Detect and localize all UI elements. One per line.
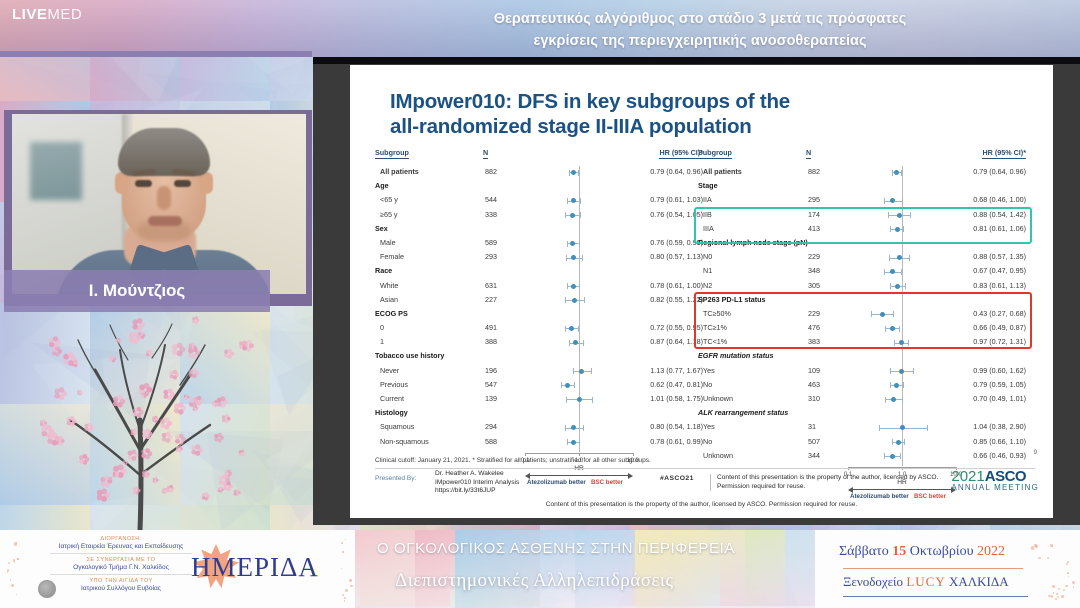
sparkle-decoration (8, 562, 10, 564)
event-date: Σάββατο 15 Οκτωβρίου 2022 (839, 544, 1005, 560)
sparkle-decoration (10, 579, 12, 581)
logo-bold-text: LIVE (12, 6, 47, 23)
presented-by-details: Dr. Heather A. Wakelee IMpower010 Interi… (435, 470, 519, 496)
row-label: Previous (380, 380, 408, 389)
row-forest-marker (848, 223, 956, 237)
presentation-slide[interactable]: IMpower010: DFS in key subgroups of the … (350, 65, 1053, 518)
medical-association-seal-icon (38, 580, 56, 598)
row-hr: 0.97 (0.72, 1.31) (973, 337, 1026, 346)
table-row: Unknown3100.70 (0.49, 1.01) (698, 393, 1028, 407)
banner-event-title: Ο ΟΓΚΟΛΟΓΙΚΟΣ ΑΣΘΕΝΗΣ ΣΤΗΝ ΠΕΡΙΦΕΡΕΙΑ Δι… (355, 530, 815, 608)
table-row: Asian2270.82 (0.55, 1.22) (375, 294, 705, 308)
column-header-n: N (806, 148, 811, 159)
forest-left-header: Subgroup N HR (95% CI)* (375, 148, 705, 162)
column-header-subgroup: Subgroup (375, 148, 409, 159)
row-n: 547 (485, 380, 497, 389)
sparkle-decoration (1058, 588, 1060, 590)
row-hr: 0.70 (0.49, 1.01) (973, 394, 1026, 403)
direction-arrow (529, 475, 629, 476)
table-row: Previous5470.62 (0.47, 0.81) (375, 379, 705, 393)
organizer-divider-2 (50, 574, 192, 575)
table-row: All patients8820.79 (0.64, 0.96) (698, 166, 1028, 180)
organizer-value-2: Ογκολογικό Τμήμα Γ.Ν. Χαλκίδος (36, 564, 206, 571)
row-forest-marker (848, 336, 956, 350)
row-label: <65 y (380, 195, 398, 204)
date-divider (843, 568, 1023, 569)
row-hr: 0.78 (0.61, 0.99) (650, 437, 703, 446)
row-forest-marker (848, 365, 956, 379)
table-row: IIA2950.68 (0.46, 1.00) (698, 194, 1028, 208)
row-forest-marker (848, 251, 956, 265)
row-forest-marker (525, 294, 633, 308)
table-row: TC≥50%2290.43 (0.27, 0.68) (698, 308, 1028, 322)
row-forest-marker (525, 280, 633, 294)
sparkle-decoration (345, 539, 346, 540)
row-hr: 0.72 (0.55, 0.95) (650, 323, 703, 332)
row-label: All patients (703, 167, 742, 176)
organizer-label-3: ΥΠΟ ΤΗΝ ΑΙΓΙΔΑ ΤΟΥ (36, 578, 206, 584)
asco-rights-note: Content of this presentation is the prop… (710, 474, 938, 491)
table-row: TC<1%3830.97 (0.72, 1.31) (698, 336, 1028, 350)
event-title-line1: Ο ΟΓΚΟΛΟΓΙΚΟΣ ΑΣΘΕΝΗΣ ΣΤΗΝ ΠΕΡΙΦΕΡΕΙΑ (377, 540, 735, 557)
row-label: Race (375, 266, 392, 275)
asco-logo-main: 2021ASCO (951, 469, 1039, 484)
sparkle-decoration (1061, 595, 1064, 598)
row-n: 491 (485, 323, 497, 332)
row-label: IIIA (703, 224, 714, 233)
table-row: White6310.78 (0.61, 1.00) (375, 280, 705, 294)
row-forest-marker (525, 436, 633, 450)
row-hr: 0.79 (0.64, 0.96) (973, 167, 1026, 176)
row-label: Tobacco use history (375, 351, 444, 360)
table-row: Non-squamous5880.78 (0.61, 0.99) (375, 436, 705, 450)
row-hr: 0.78 (0.61, 1.00) (650, 281, 703, 290)
forest-left-rows: All patients8820.79 (0.64, 0.96)Age<65 y… (375, 166, 705, 450)
table-row: Histology (375, 407, 705, 421)
row-hr: 0.66 (0.49, 0.87) (973, 323, 1026, 332)
sparkle-decoration (1073, 586, 1074, 587)
column-header-n: N (483, 148, 488, 159)
row-n: 227 (485, 295, 497, 304)
row-forest-marker (525, 209, 633, 223)
row-label: Current (380, 394, 404, 403)
row-label: ALK rearrangement status (698, 408, 788, 417)
sparkle-decoration (1055, 598, 1057, 600)
row-n: 31 (808, 422, 816, 431)
event-logo-text: ΗΜΕΡΙΔΑ (191, 552, 351, 583)
legend-right-better: BSC better (914, 493, 946, 500)
row-label: TC≥1% (703, 323, 727, 332)
venue-divider (843, 596, 1028, 597)
sparkle-decoration (1065, 585, 1068, 588)
row-label: Stage (698, 181, 718, 190)
table-row: 13880.87 (0.64, 1.18) (375, 336, 705, 350)
presenter-full-name: Dr. Heather A. Wakelee (435, 470, 519, 479)
row-forest-marker (525, 194, 633, 208)
legend-left-better: Atezolizumab better (527, 479, 586, 486)
row-forest-marker (848, 308, 956, 322)
organizer-label-2: ΣΕ ΣΥΝΕΡΓΑΣΙΑ ΜΕ ΤΟ (36, 557, 206, 563)
presenter-video[interactable] (12, 114, 306, 294)
slide-copyright-note: Content of this presentation is the prop… (350, 501, 1053, 508)
table-row: IIB1740.88 (0.54, 1.42) (698, 209, 1028, 223)
row-forest-marker (525, 421, 633, 435)
row-hr: 0.83 (0.61, 1.13) (973, 281, 1026, 290)
table-row: Female2930.80 (0.57, 1.13) (375, 251, 705, 265)
row-hr: 0.67 (0.47, 0.95) (973, 266, 1026, 275)
row-n: 293 (485, 252, 497, 261)
table-row: Tobacco use history (375, 350, 705, 364)
table-row: Sex (375, 223, 705, 237)
row-hr: 0.85 (0.66, 1.10) (973, 437, 1026, 446)
date-day: 15 (892, 544, 906, 559)
table-row: N13480.67 (0.47, 0.95) (698, 265, 1028, 279)
table-row: 04910.72 (0.55, 0.95) (375, 322, 705, 336)
row-n: 196 (485, 366, 497, 375)
row-n: 463 (808, 380, 820, 389)
presenter-name: Ι. Μούντζιος (89, 281, 186, 301)
table-row: No4630.79 (0.59, 1.05) (698, 379, 1028, 393)
row-label: Yes (703, 422, 715, 431)
presenter-ear-right (200, 172, 213, 194)
row-hr: 1.13 (0.77, 1.67) (650, 366, 703, 375)
row-label: Age (375, 181, 389, 190)
row-n: 310 (808, 394, 820, 403)
row-forest-marker (525, 237, 633, 251)
row-forest-marker (525, 379, 633, 393)
row-label: IIA (703, 195, 712, 204)
row-forest-marker (848, 421, 956, 435)
sparkle-decoration (1052, 585, 1055, 588)
sparkle-decoration (342, 551, 344, 553)
row-forest-marker (848, 436, 956, 450)
row-n: 305 (808, 281, 820, 290)
column-header-subgroup: Subgroup (698, 148, 732, 159)
slide-title: IMpower010: DFS in key subgroups of the … (390, 89, 950, 139)
row-label: TC<1% (703, 337, 727, 346)
table-row: EGFR mutation status (698, 350, 1028, 364)
row-n: 139 (485, 394, 497, 403)
row-hr: 1.01 (0.58, 1.75) (650, 394, 703, 403)
row-n: 544 (485, 195, 497, 204)
sparkle-decoration (1068, 576, 1069, 577)
sparkle-decoration (349, 579, 351, 581)
row-label: No (703, 380, 712, 389)
sparkle-decoration (1051, 546, 1052, 547)
row-forest-marker (848, 280, 956, 294)
row-label: Squamous (380, 422, 414, 431)
row-label: Sex (375, 224, 388, 233)
row-forest-marker (848, 194, 956, 208)
asco-hashtag: #ASCO21 (660, 475, 694, 482)
row-hr: 0.79 (0.64, 0.96) (650, 167, 703, 176)
row-forest-marker (525, 393, 633, 407)
sparkle-decoration (1063, 589, 1066, 592)
study-link[interactable]: https://bit.ly/33t6JUP (435, 487, 519, 496)
sparkle-decoration (1072, 581, 1075, 584)
row-n: 882 (808, 167, 820, 176)
row-forest-marker (848, 166, 956, 180)
row-n: 882 (485, 167, 497, 176)
row-label: Histology (375, 408, 408, 417)
row-forest-marker (525, 166, 633, 180)
row-n: 588 (485, 437, 497, 446)
venue-name: LUCY (906, 574, 945, 589)
row-hr: 1.04 (0.38, 2.90) (973, 422, 1026, 431)
asco-rights-line2: Permission required for reuse. (717, 483, 938, 492)
table-row: TC≥1%4760.66 (0.49, 0.87) (698, 322, 1028, 336)
row-hr: 0.81 (0.61, 1.06) (973, 224, 1026, 233)
page-title: Θεραπευτικός αλγόριθμος στο στάδιο 3 μετ… (330, 8, 1070, 52)
presenter-nose (157, 186, 171, 210)
event-venue: Ξενοδοχείο LUCY ΧΑΛΚΙΔΑ (843, 574, 1009, 590)
table-row: N02290.88 (0.57, 1.35) (698, 251, 1028, 265)
sparkle-decoration (344, 597, 346, 599)
row-forest-marker (848, 322, 956, 336)
sparkle-decoration (350, 585, 353, 588)
table-row: No5070.85 (0.66, 1.10) (698, 436, 1028, 450)
presenter-name-bar: Ι. Μούντζιος (4, 270, 270, 312)
row-n: 338 (485, 210, 497, 219)
date-prefix: Σάββατο (839, 544, 889, 559)
row-hr: 0.99 (0.60, 1.62) (973, 366, 1026, 375)
forest-plot-right: Subgroup N HR (95% CI)* All patients8820… (698, 148, 1028, 448)
row-n: 388 (485, 337, 497, 346)
row-label: TC≥50% (703, 309, 731, 318)
row-label: IIB (703, 210, 712, 219)
row-n: 229 (808, 309, 820, 318)
row-label: No (703, 437, 712, 446)
event-title-line2: Διεπιστημονικές Αλληλεπιδράσεις (395, 570, 674, 592)
sparkle-decoration (1047, 557, 1049, 559)
row-label: EGFR mutation status (698, 351, 773, 360)
row-label: Yes (703, 366, 715, 375)
study-name: IMpower010 Interim Analysis (435, 479, 519, 488)
row-label: 1 (380, 337, 384, 346)
row-label: Male (380, 238, 396, 247)
organizer-block: ΔΙΟΡΓΑΝΩΣΗ: Ιατρική Εταιρεία Έρευνας και… (36, 536, 206, 592)
column-header-hr: HR (95% CI)* (982, 148, 1026, 159)
table-row: IIIA4130.81 (0.61, 1.06) (698, 223, 1028, 237)
row-hr: 0.87 (0.64, 1.18) (650, 337, 703, 346)
row-forest-marker (525, 336, 633, 350)
row-forest-marker (848, 393, 956, 407)
presenter-mouth (148, 216, 182, 226)
date-month: Οκτωβρίου (910, 544, 974, 559)
header-title-line1: Θεραπευτικός αλγόριθμος στο στάδιο 3 μετ… (330, 8, 1070, 30)
banner-organizers: ΔΙΟΡΓΑΝΩΣΗ: Ιατρική Εταιρεία Έρευνας και… (0, 530, 355, 608)
logo-light-text: MED (47, 6, 82, 23)
row-hr: 0.80 (0.57, 1.13) (650, 252, 703, 261)
sparkle-decoration (1053, 592, 1054, 593)
row-n: 476 (808, 323, 820, 332)
table-row: All patients8820.79 (0.64, 0.96) (375, 166, 705, 180)
slide-title-line1: IMpower010: DFS in key subgroups of the (390, 89, 950, 114)
row-n: 109 (808, 366, 820, 375)
row-n: 174 (808, 210, 820, 219)
table-row: Race (375, 265, 705, 279)
row-n: 229 (808, 252, 820, 261)
sparkle-decoration (1035, 545, 1038, 548)
venue-city: ΧΑΛΚΙΔΑ (949, 574, 1009, 589)
table-row: Yes311.04 (0.38, 2.90) (698, 421, 1028, 435)
row-forest-marker (525, 251, 633, 265)
column-header-hr: HR (95% CI)* (659, 148, 703, 159)
table-row: ALK rearrangement status (698, 407, 1028, 421)
row-label: Never (380, 366, 399, 375)
table-row: Regional lymph node stage (pN) (698, 237, 1028, 251)
sparkle-decoration (1056, 593, 1058, 595)
row-hr: 0.76 (0.59, 0.99) (650, 238, 703, 247)
legend-left-better: Atezolizumab better (850, 493, 909, 500)
row-n: 348 (808, 266, 820, 275)
sparkle-decoration (13, 559, 15, 561)
legend-right-better: BSC better (591, 479, 623, 486)
table-row: Age (375, 180, 705, 194)
row-forest-marker (848, 265, 956, 279)
table-row: Squamous2940.80 (0.54, 1.18) (375, 421, 705, 435)
row-hr: 0.62 (0.47, 0.81) (650, 380, 703, 389)
presenter-eye-left (135, 180, 152, 187)
asco-logo: 2021ASCO ANNUAL MEETING (951, 469, 1039, 492)
forest-right-header: Subgroup N HR (95% CI)* (698, 148, 1028, 162)
row-label: N1 (703, 266, 712, 275)
row-n: 589 (485, 238, 497, 247)
forest-plot-left: Subgroup N HR (95% CI)* All patients8820… (375, 148, 705, 448)
row-hr: 0.68 (0.46, 1.00) (973, 195, 1026, 204)
row-label: Asian (380, 295, 398, 304)
organizer-value-3: Ιατρικού Συλλόγου Ευβοίας (36, 585, 206, 592)
row-forest-marker (848, 209, 956, 223)
organizer-divider-1 (50, 553, 192, 554)
row-label: White (380, 281, 398, 290)
row-hr: 0.76 (0.54, 1.05) (650, 210, 703, 219)
row-label: Non-squamous (380, 437, 429, 446)
forest-right-rows: All patients8820.79 (0.64, 0.96)StageIIA… (698, 166, 1028, 464)
header-bar: LIVEMED Θεραπευτικός αλγόριθμος στο στάδ… (0, 0, 1080, 57)
row-n: 383 (808, 337, 820, 346)
presenter-hair (118, 128, 210, 176)
row-n: 295 (808, 195, 820, 204)
row-label: N2 (703, 281, 712, 290)
row-label: N0 (703, 252, 712, 261)
table-row: Stage (698, 180, 1028, 194)
table-row: ECOG PS (375, 308, 705, 322)
slide-title-line2: all-randomized stage II-IIIA population (390, 114, 950, 139)
row-n: 294 (485, 422, 497, 431)
row-hr: 0.43 (0.27, 0.68) (973, 309, 1026, 318)
sparkle-decoration (17, 558, 19, 560)
slide-number: 9 (1033, 449, 1037, 456)
table-row: ≥65 y3380.76 (0.54, 1.05) (375, 209, 705, 223)
video-wall-picture (30, 142, 82, 200)
row-forest-marker (848, 379, 956, 393)
banner-date-venue: Σάββατο 15 Οκτωβρίου 2022 Ξενοδοχείο LUC… (815, 530, 1080, 608)
organizer-label-1: ΔΙΟΡΓΑΝΩΣΗ: (36, 536, 206, 542)
presented-by-label: Presented By: (375, 475, 416, 482)
asco-rights-line1: Content of this presentation is the prop… (717, 474, 938, 483)
date-year: 2022 (977, 544, 1005, 559)
header-title-line2: εγκρίσεις της περιεγχειρητικής ανοσοθερα… (330, 30, 1070, 52)
row-hr: 0.80 (0.54, 1.18) (650, 422, 703, 431)
organizer-value-1: Ιατρική Εταιρεία Έρευνας και Εκπαίδευσης (36, 543, 206, 550)
row-n: 631 (485, 281, 497, 290)
row-label: ECOG PS (375, 309, 408, 318)
table-row: SP263 PD-L1 status (698, 294, 1028, 308)
tree-decoration (0, 300, 310, 530)
row-forest-marker (525, 365, 633, 379)
row-forest-marker (525, 322, 633, 336)
row-label: All patients (380, 167, 419, 176)
row-hr: 0.82 (0.55, 1.22) (650, 295, 703, 304)
row-hr: 0.88 (0.54, 1.42) (973, 210, 1026, 219)
sparkle-decoration (1038, 557, 1040, 559)
sparkle-decoration (344, 600, 346, 602)
slide-frame: IMpower010: DFS in key subgroups of the … (313, 55, 1080, 525)
table-row: Male5890.76 (0.59, 0.99) (375, 237, 705, 251)
row-label: Regional lymph node stage (pN) (698, 238, 808, 247)
row-hr: 0.88 (0.57, 1.35) (973, 252, 1026, 261)
presenter-eye-right (174, 180, 191, 187)
table-row: Never1961.13 (0.77, 1.67) (375, 365, 705, 379)
venue-prefix: Ξενοδοχείο (843, 574, 903, 589)
table-row: Current1391.01 (0.58, 1.75) (375, 393, 705, 407)
sparkle-decoration (1051, 595, 1054, 598)
row-n: 507 (808, 437, 820, 446)
sparkle-decoration (11, 584, 14, 587)
event-banner: ΔΙΟΡΓΑΝΩΣΗ: Ιατρική Εταιρεία Έρευνας και… (0, 530, 1080, 608)
sparkle-decoration (14, 562, 15, 563)
sparkle-decoration (1066, 563, 1068, 565)
sparkle-decoration (16, 594, 17, 595)
row-hr: 0.79 (0.59, 1.05) (973, 380, 1026, 389)
table-row: <65 y5440.79 (0.61, 1.03) (375, 194, 705, 208)
row-label: 0 (380, 323, 384, 332)
event-logo: ΗΜΕΡΙΔΑ (185, 544, 350, 596)
row-label: Unknown (703, 394, 733, 403)
table-row: Yes1090.99 (0.60, 1.62) (698, 365, 1028, 379)
row-label: Female (380, 252, 404, 261)
livemed-logo: LIVEMED (12, 6, 82, 23)
table-row: N23050.83 (0.61, 1.13) (698, 280, 1028, 294)
row-hr: 0.79 (0.61, 1.03) (650, 195, 703, 204)
row-label: SP263 PD-L1 status (698, 295, 766, 304)
clinical-cutoff-note: Clinical cutoff: January 21, 2021. * Str… (375, 457, 1035, 469)
row-label: ≥65 y (380, 210, 398, 219)
asco-logo-subtitle: ANNUAL MEETING (951, 483, 1039, 492)
row-n: 413 (808, 224, 820, 233)
